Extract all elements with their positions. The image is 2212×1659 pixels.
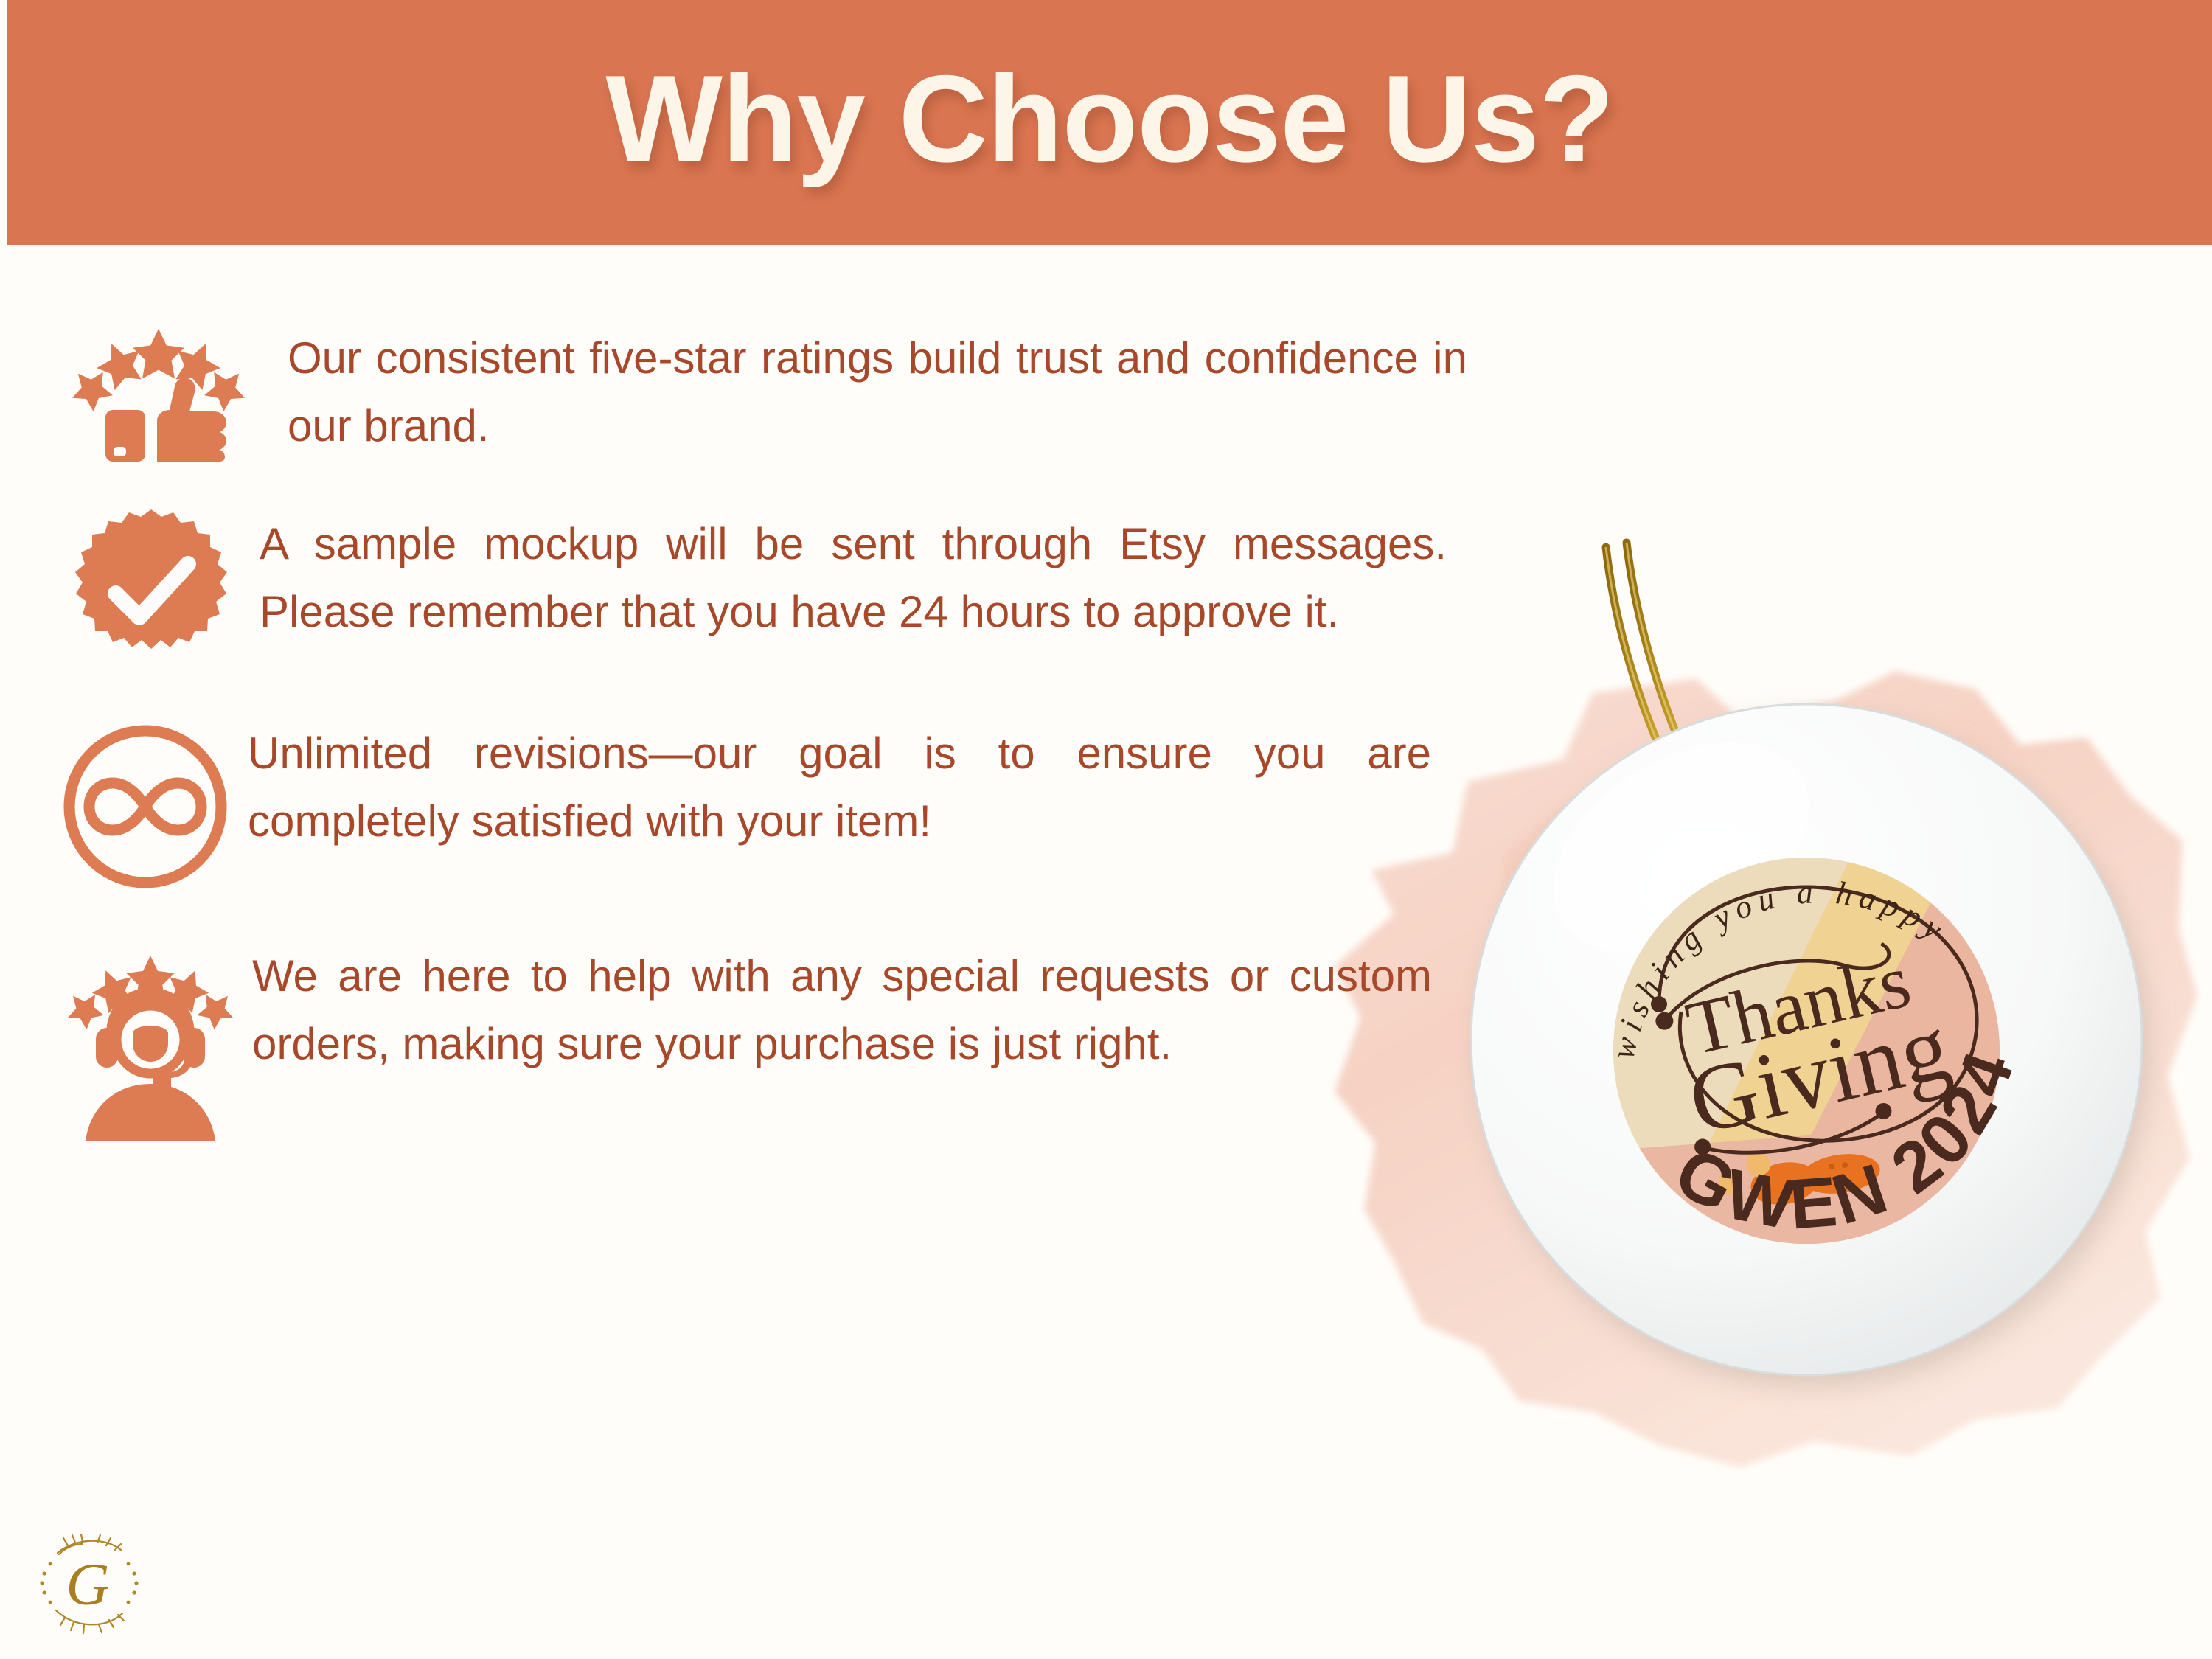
five-star-thumbs-up-icon: [59, 323, 258, 463]
brand-logo: G: [34, 1528, 145, 1638]
list-item-text: A sample mockup will be sent through Ets…: [260, 510, 1447, 646]
list-item-text: Our consistent five-star ratings build t…: [288, 324, 1467, 460]
page-header-banner: Why Choose Us?: [7, 0, 2212, 245]
list-item: Unlimited revisions—our goal is to ensur…: [53, 705, 1519, 895]
verified-badge-check-icon: [63, 507, 239, 677]
page-title: Why Choose Us?: [605, 57, 1613, 188]
brand-logo-letter: G: [66, 1551, 109, 1618]
list-item: A sample mockup will be sent through Ets…: [63, 494, 1519, 677]
benefits-list: Our consistent five-star ratings build t…: [0, 317, 1519, 1150]
list-item-text: We are here to help with any special req…: [252, 942, 1432, 1078]
infinity-circle-icon: [53, 718, 237, 895]
list-item: Our consistent five-star ratings build t…: [59, 317, 1519, 463]
customer-support-agent-stars-icon: [58, 951, 243, 1150]
list-item: We are here to help with any special req…: [58, 932, 1519, 1150]
list-item-text: Unlimited revisions—our goal is to ensur…: [248, 720, 1431, 855]
product-ornament-image: wishing you a happy Thanks Giving GWEN 2…: [1438, 531, 2190, 1504]
